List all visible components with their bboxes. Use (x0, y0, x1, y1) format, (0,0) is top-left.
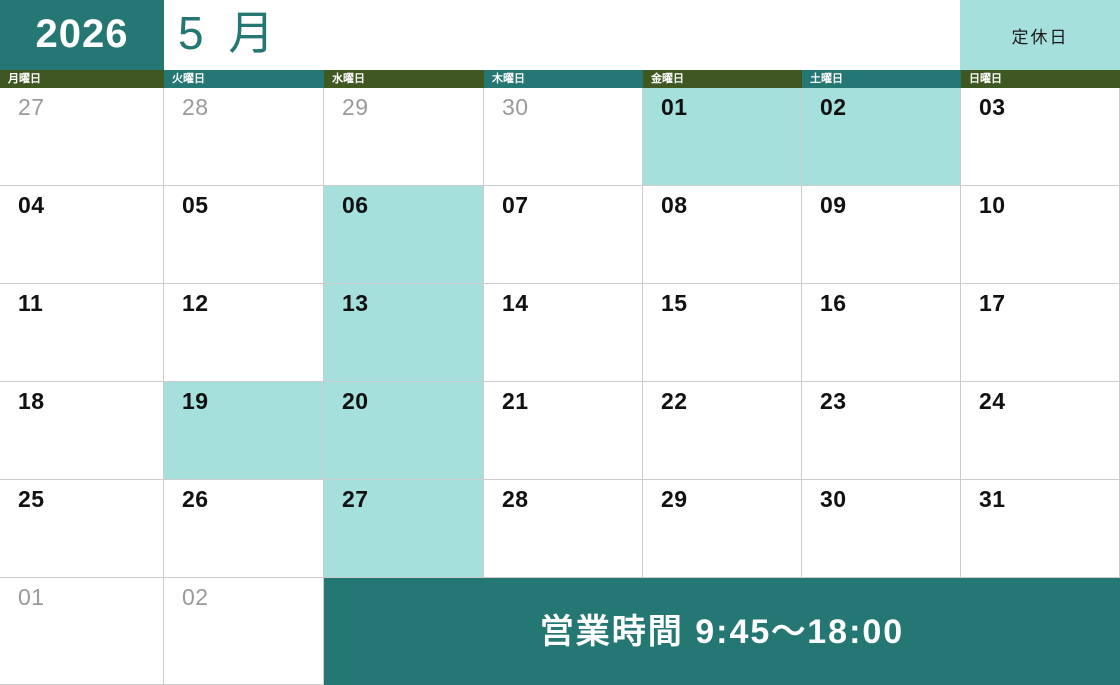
day-number: 18 (18, 388, 45, 416)
weekday-header-label: 日曜日 (961, 74, 1002, 85)
day-cell[interactable]: 18 (0, 382, 164, 480)
day-cell[interactable]: 16 (802, 284, 961, 382)
day-number: 20 (342, 388, 369, 416)
day-cell[interactable]: 10 (961, 186, 1120, 284)
day-cell[interactable]: 01 (0, 578, 164, 685)
weekday-header-label: 金曜日 (643, 74, 684, 85)
weekday-header-2: 火曜日 (164, 70, 324, 88)
day-number: 25 (18, 486, 45, 514)
weekday-header-label: 木曜日 (484, 74, 525, 85)
day-cell[interactable]: 07 (484, 186, 643, 284)
day-number: 28 (502, 486, 529, 514)
day-cell[interactable]: 26 (164, 480, 324, 578)
day-number: 19 (182, 388, 209, 416)
day-number: 01 (661, 94, 688, 122)
day-number: 04 (18, 192, 45, 220)
day-cell[interactable]: 08 (643, 186, 802, 284)
closed-day-legend-label: 定休日 (1012, 23, 1069, 48)
day-cell[interactable]: 20 (324, 382, 484, 480)
weekday-header-5: 金曜日 (643, 70, 802, 88)
day-number: 09 (820, 192, 847, 220)
day-cell[interactable]: 29 (643, 480, 802, 578)
day-cell[interactable]: 27 (324, 480, 484, 578)
day-number: 26 (182, 486, 209, 514)
day-cell[interactable]: 25 (0, 480, 164, 578)
day-cell[interactable]: 14 (484, 284, 643, 382)
day-number: 30 (820, 486, 847, 514)
day-cell[interactable]: 22 (643, 382, 802, 480)
day-number: 28 (182, 94, 209, 122)
business-hours-label: 営業時間 9:45〜18:00 (540, 615, 904, 649)
weekday-header-label: 水曜日 (324, 74, 365, 85)
day-cell[interactable]: 13 (324, 284, 484, 382)
weekday-header-label: 土曜日 (802, 74, 843, 85)
day-number: 14 (502, 290, 529, 318)
day-number: 31 (979, 486, 1006, 514)
day-number: 21 (502, 388, 529, 416)
weekday-header-label: 月曜日 (0, 74, 41, 85)
weekday-header-3: 水曜日 (324, 70, 484, 88)
day-cell[interactable]: 24 (961, 382, 1120, 480)
weekday-header-row: 月曜日火曜日水曜日木曜日金曜日土曜日日曜日 (0, 70, 1120, 88)
day-cell[interactable]: 27 (0, 88, 164, 186)
day-cell[interactable]: 05 (164, 186, 324, 284)
day-number: 07 (502, 192, 529, 220)
day-cell[interactable]: 15 (643, 284, 802, 382)
day-number: 15 (661, 290, 688, 318)
day-cell[interactable]: 09 (802, 186, 961, 284)
day-number: 02 (182, 584, 209, 612)
day-cell[interactable]: 30 (484, 88, 643, 186)
day-number: 17 (979, 290, 1006, 318)
day-number: 29 (342, 94, 369, 122)
day-number: 13 (342, 290, 369, 318)
day-number: 29 (661, 486, 688, 514)
day-cell[interactable]: 11 (0, 284, 164, 382)
day-cell[interactable]: 19 (164, 382, 324, 480)
day-number: 01 (18, 584, 45, 612)
day-number: 23 (820, 388, 847, 416)
day-cell[interactable]: 28 (484, 480, 643, 578)
day-cell[interactable]: 30 (802, 480, 961, 578)
closed-day-legend: 定休日 (960, 0, 1120, 70)
day-number: 06 (342, 192, 369, 220)
month-title: 5 月 (178, 0, 280, 70)
day-number: 27 (342, 486, 369, 514)
day-cell[interactable]: 28 (164, 88, 324, 186)
day-cell[interactable]: 23 (802, 382, 961, 480)
day-cell[interactable]: 03 (961, 88, 1120, 186)
day-cell[interactable]: 02 (802, 88, 961, 186)
day-cell[interactable]: 21 (484, 382, 643, 480)
day-number: 03 (979, 94, 1006, 122)
year-badge: 2026 (0, 0, 164, 70)
day-number: 12 (182, 290, 209, 318)
day-number: 27 (18, 94, 45, 122)
day-cell[interactable]: 04 (0, 186, 164, 284)
day-number: 30 (502, 94, 529, 122)
day-number: 11 (18, 290, 43, 318)
calendar-page: 2026 5 月 定休日 月曜日火曜日水曜日木曜日金曜日土曜日日曜日 27282… (0, 0, 1120, 685)
calendar-header: 2026 5 月 定休日 (0, 0, 1120, 70)
month-label: 5 月 (178, 10, 280, 60)
day-number: 16 (820, 290, 847, 318)
weekday-header-1: 月曜日 (0, 70, 164, 88)
weekday-header-label: 火曜日 (164, 74, 205, 85)
day-cell[interactable]: 17 (961, 284, 1120, 382)
day-number: 24 (979, 388, 1006, 416)
weekday-header-7: 日曜日 (961, 70, 1120, 88)
business-hours-banner: 営業時間 9:45〜18:00 (324, 578, 1120, 685)
day-number: 08 (661, 192, 688, 220)
day-cell[interactable]: 12 (164, 284, 324, 382)
day-number: 10 (979, 192, 1006, 220)
day-cell[interactable]: 31 (961, 480, 1120, 578)
day-number: 05 (182, 192, 209, 220)
weekday-header-4: 木曜日 (484, 70, 643, 88)
day-cell[interactable]: 29 (324, 88, 484, 186)
day-number: 22 (661, 388, 688, 416)
year-label: 2026 (36, 14, 129, 56)
day-cell[interactable]: 02 (164, 578, 324, 685)
weekday-header-6: 土曜日 (802, 70, 961, 88)
day-cell[interactable]: 06 (324, 186, 484, 284)
day-number: 02 (820, 94, 847, 122)
day-cell[interactable]: 01 (643, 88, 802, 186)
